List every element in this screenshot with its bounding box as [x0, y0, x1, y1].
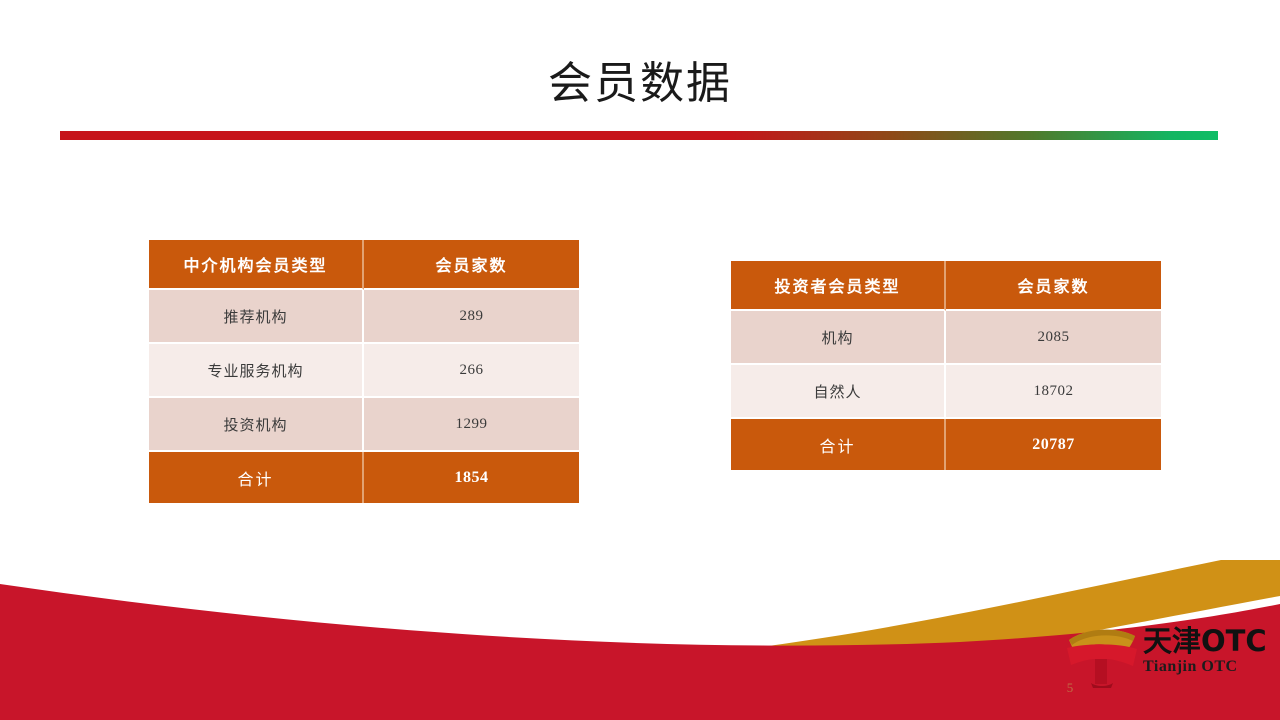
table-row: 自然人 18702 — [731, 365, 1161, 419]
table-total-row: 合计 20787 — [731, 419, 1161, 470]
total-label: 合计 — [731, 419, 946, 470]
page-title: 会员数据 — [0, 58, 1280, 111]
title-divider-bar — [60, 131, 1218, 140]
cell-member-type: 专业服务机构 — [149, 344, 364, 398]
total-label: 合计 — [149, 452, 364, 503]
cell-member-count: 266 — [364, 344, 579, 398]
table-row: 机构 2085 — [731, 311, 1161, 365]
logo-text-en: Tianjin OTC — [1143, 658, 1263, 676]
investor-member-table: 投资者会员类型 会员家数 机构 2085 自然人 18702 合计 20787 — [731, 261, 1161, 470]
cell-member-type: 投资机构 — [149, 398, 364, 452]
total-value: 1854 — [364, 452, 579, 503]
intermediary-member-table: 中介机构会员类型 会员家数 推荐机构 289 专业服务机构 266 投资机构 1… — [149, 240, 579, 503]
table-header-row: 投资者会员类型 会员家数 — [731, 261, 1161, 311]
logo-text-cn: 天津OTC — [1143, 626, 1263, 656]
column-header-member-type: 中介机构会员类型 — [149, 240, 364, 290]
logo: 天津OTC Tianjin OTC — [1063, 622, 1263, 698]
table-row: 推荐机构 289 — [149, 290, 579, 344]
cell-member-count: 2085 — [946, 311, 1161, 365]
total-value: 20787 — [946, 419, 1161, 470]
cell-member-type: 自然人 — [731, 365, 946, 419]
cell-member-count: 18702 — [946, 365, 1161, 419]
cell-member-count: 289 — [364, 290, 579, 344]
table-header-row: 中介机构会员类型 会员家数 — [149, 240, 579, 290]
column-header-member-count: 会员家数 — [364, 240, 579, 290]
cell-member-type: 推荐机构 — [149, 290, 364, 344]
cell-member-count: 1299 — [364, 398, 579, 452]
column-header-member-type: 投资者会员类型 — [731, 261, 946, 311]
column-header-member-count: 会员家数 — [946, 261, 1161, 311]
logo-text: 天津OTC Tianjin OTC — [1143, 626, 1263, 676]
tianjin-otc-logo-icon — [1063, 624, 1141, 690]
table-total-row: 合计 1854 — [149, 452, 579, 503]
cell-member-type: 机构 — [731, 311, 946, 365]
table-row: 投资机构 1299 — [149, 398, 579, 452]
slide: 会员数据 中介机构会员类型 会员家数 推荐机构 289 专业服务机构 266 投… — [0, 0, 1280, 720]
table-row: 专业服务机构 266 — [149, 344, 579, 398]
